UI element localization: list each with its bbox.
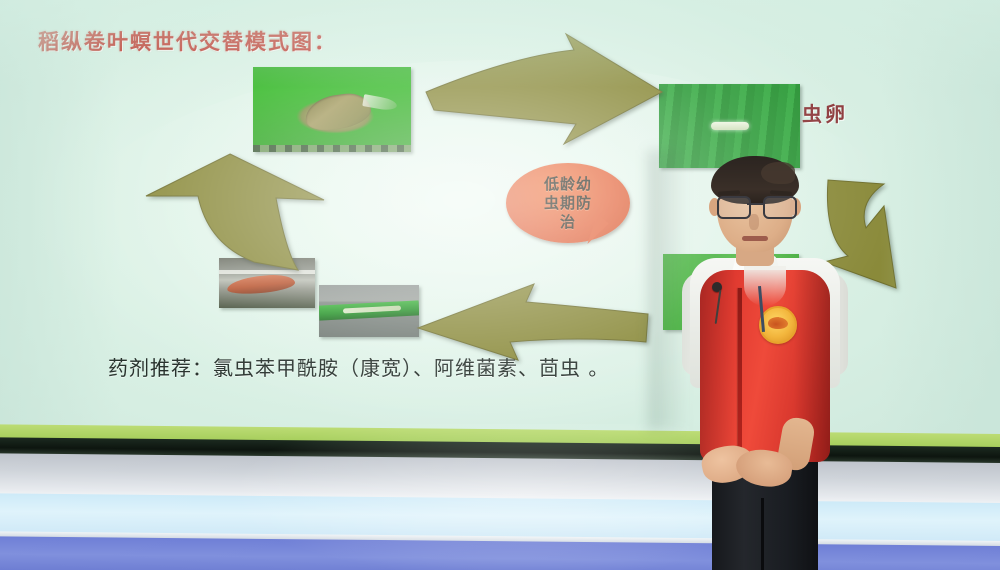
vest-zipper: [738, 288, 742, 464]
arrow-up-icon: [134, 152, 326, 274]
vest-emblem-badge: [759, 306, 797, 344]
larva-photo: [319, 285, 419, 337]
callout-line-3: 治: [506, 213, 630, 232]
egg-mass-shape: [711, 122, 749, 130]
callout-text: 低龄幼 虫期防 治: [506, 175, 630, 232]
glasses-left-lens: [717, 196, 751, 219]
pupa-body-shape: [226, 272, 295, 296]
video-frame: 稻纵卷叶螟世代交替模式图：: [0, 0, 1000, 570]
glasses-icon: [712, 196, 800, 216]
callout-bubble: 低龄幼 虫期防 治: [506, 163, 630, 249]
adult-moth-photo: [253, 67, 411, 152]
arrow-right-icon: [424, 32, 664, 148]
callout-line-1: 低龄幼: [506, 175, 630, 194]
moth-wing-shape: [303, 91, 373, 134]
photo-bottom-strip: [253, 145, 411, 152]
pesticide-recommendation-text: 药剂推荐：氯虫苯甲酰胺（康宽）、阿维菌素、茴虫 。: [108, 352, 609, 381]
presenter-nose: [749, 214, 759, 230]
trousers-seam: [761, 498, 764, 570]
glasses-right-lens: [763, 196, 797, 219]
presenter-mouth: [742, 236, 768, 241]
page-title: 稻纵卷叶螟世代交替模式图：: [38, 26, 337, 56]
egg-stage-label: 虫卵: [802, 98, 848, 127]
glasses-bridge: [747, 203, 763, 205]
presenter: [676, 146, 852, 570]
callout-line-2: 虫期防: [506, 194, 630, 213]
